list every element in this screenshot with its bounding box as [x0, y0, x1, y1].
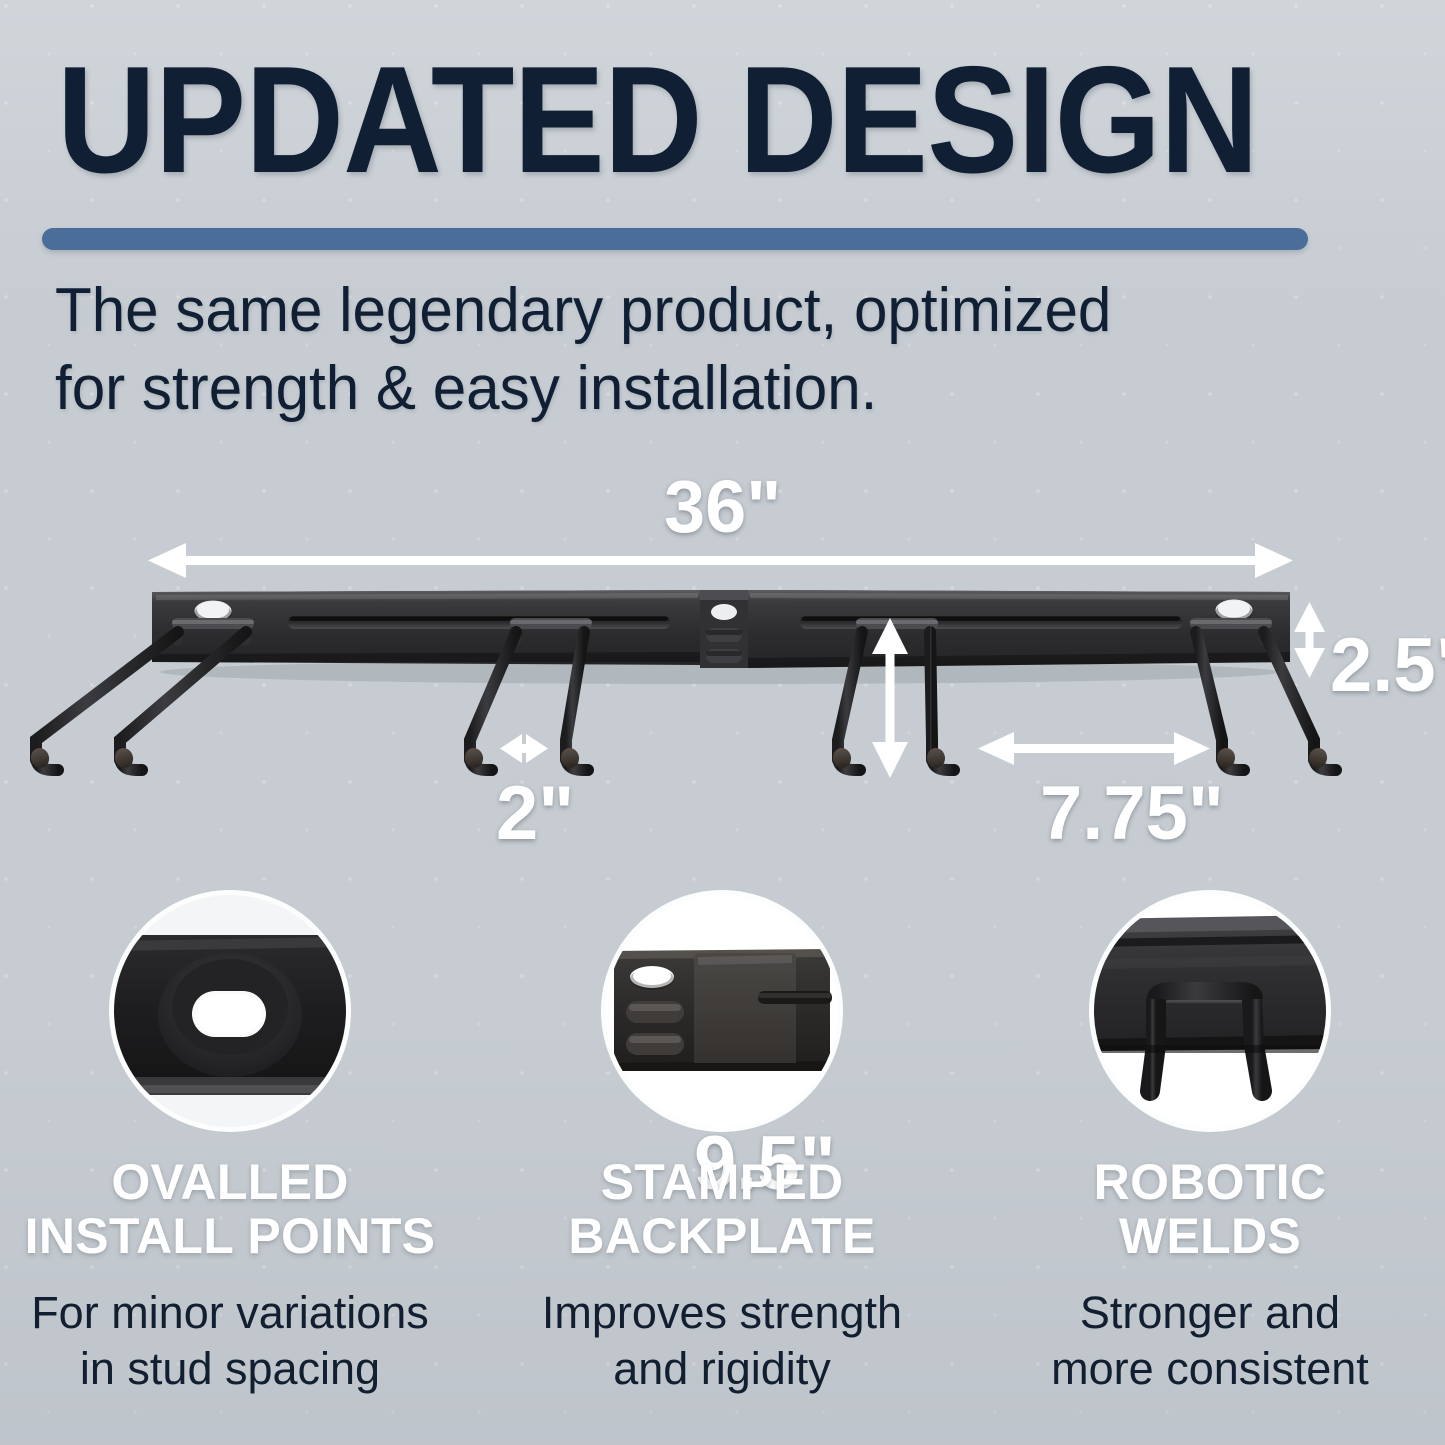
dimension-arrow-height: [1294, 602, 1325, 678]
feature-desc-line-1: For minor variations: [0, 1285, 465, 1341]
dimension-label-height: 2.5": [1330, 622, 1445, 709]
feature-heading: STAMPED BACKPLATE: [487, 1155, 957, 1263]
feature-heading-line-1: STAMPED: [487, 1155, 957, 1209]
feature-heading: OVALLED INSTALL POINTS: [0, 1155, 465, 1263]
dimension-label-hook-gap: 2": [496, 770, 574, 857]
feature-desc-line-1: Improves strength: [487, 1285, 957, 1341]
accent-rule: [42, 228, 1308, 250]
feature-desc-line-2: more consistent: [975, 1341, 1445, 1397]
feature-heading-line-2: INSTALL POINTS: [0, 1209, 465, 1263]
subtitle-line-1: The same legendary product, optimized: [55, 272, 1316, 350]
feature-heading-line-1: OVALLED: [0, 1155, 465, 1209]
feature-heading-line-1: ROBOTIC: [975, 1155, 1445, 1209]
feature-desc-line-2: in stud spacing: [0, 1341, 465, 1397]
subtitle-line-2: for strength & easy installation.: [55, 350, 1316, 428]
feature-desc-line-1: Stronger and: [975, 1285, 1445, 1341]
feature-description: Improves strength and rigidity: [487, 1285, 957, 1397]
feature-heading: ROBOTIC WELDS: [975, 1155, 1445, 1263]
feature-robotic-welds: ROBOTIC WELDS Stronger and more consiste…: [975, 895, 1445, 1397]
dimension-label-length: 36": [664, 464, 781, 549]
feature-desc-line-2: and rigidity: [487, 1341, 957, 1397]
feature-description: For minor variations in stud spacing: [0, 1285, 465, 1397]
dimension-arrow-hook-gap: [500, 734, 548, 763]
rail-center-backplate: [700, 590, 748, 668]
dimension-arrow-hook-spacing: [978, 732, 1210, 765]
feature-stamped-backplate: STAMPED BACKPLATE Improves strength and …: [487, 895, 957, 1397]
robotic-weld-icon: [1094, 895, 1326, 1127]
feature-heading-line-2: WELDS: [975, 1209, 1445, 1263]
dimension-label-hook-spacing: 7.75": [1040, 770, 1224, 857]
feature-row: OVALLED INSTALL POINTS For minor variati…: [0, 895, 1445, 1435]
infographic-canvas: UPDATED DESIGN The same legendary produc…: [0, 0, 1445, 1445]
feature-ovalled-install-points: OVALLED INSTALL POINTS For minor variati…: [0, 895, 465, 1397]
ovalled-install-point-icon: [114, 895, 346, 1127]
feature-description: Stronger and more consistent: [975, 1285, 1445, 1397]
subtitle: The same legendary product, optimized fo…: [55, 272, 1316, 428]
stamped-backplate-icon: [606, 895, 838, 1127]
page-title: UPDATED DESIGN: [57, 44, 1258, 196]
feature-heading-line-2: BACKPLATE: [487, 1209, 957, 1263]
product-diagram: 36" 2.5" 9.5" 2" 7.75": [0, 440, 1445, 870]
rail-assembly: [152, 590, 1290, 684]
